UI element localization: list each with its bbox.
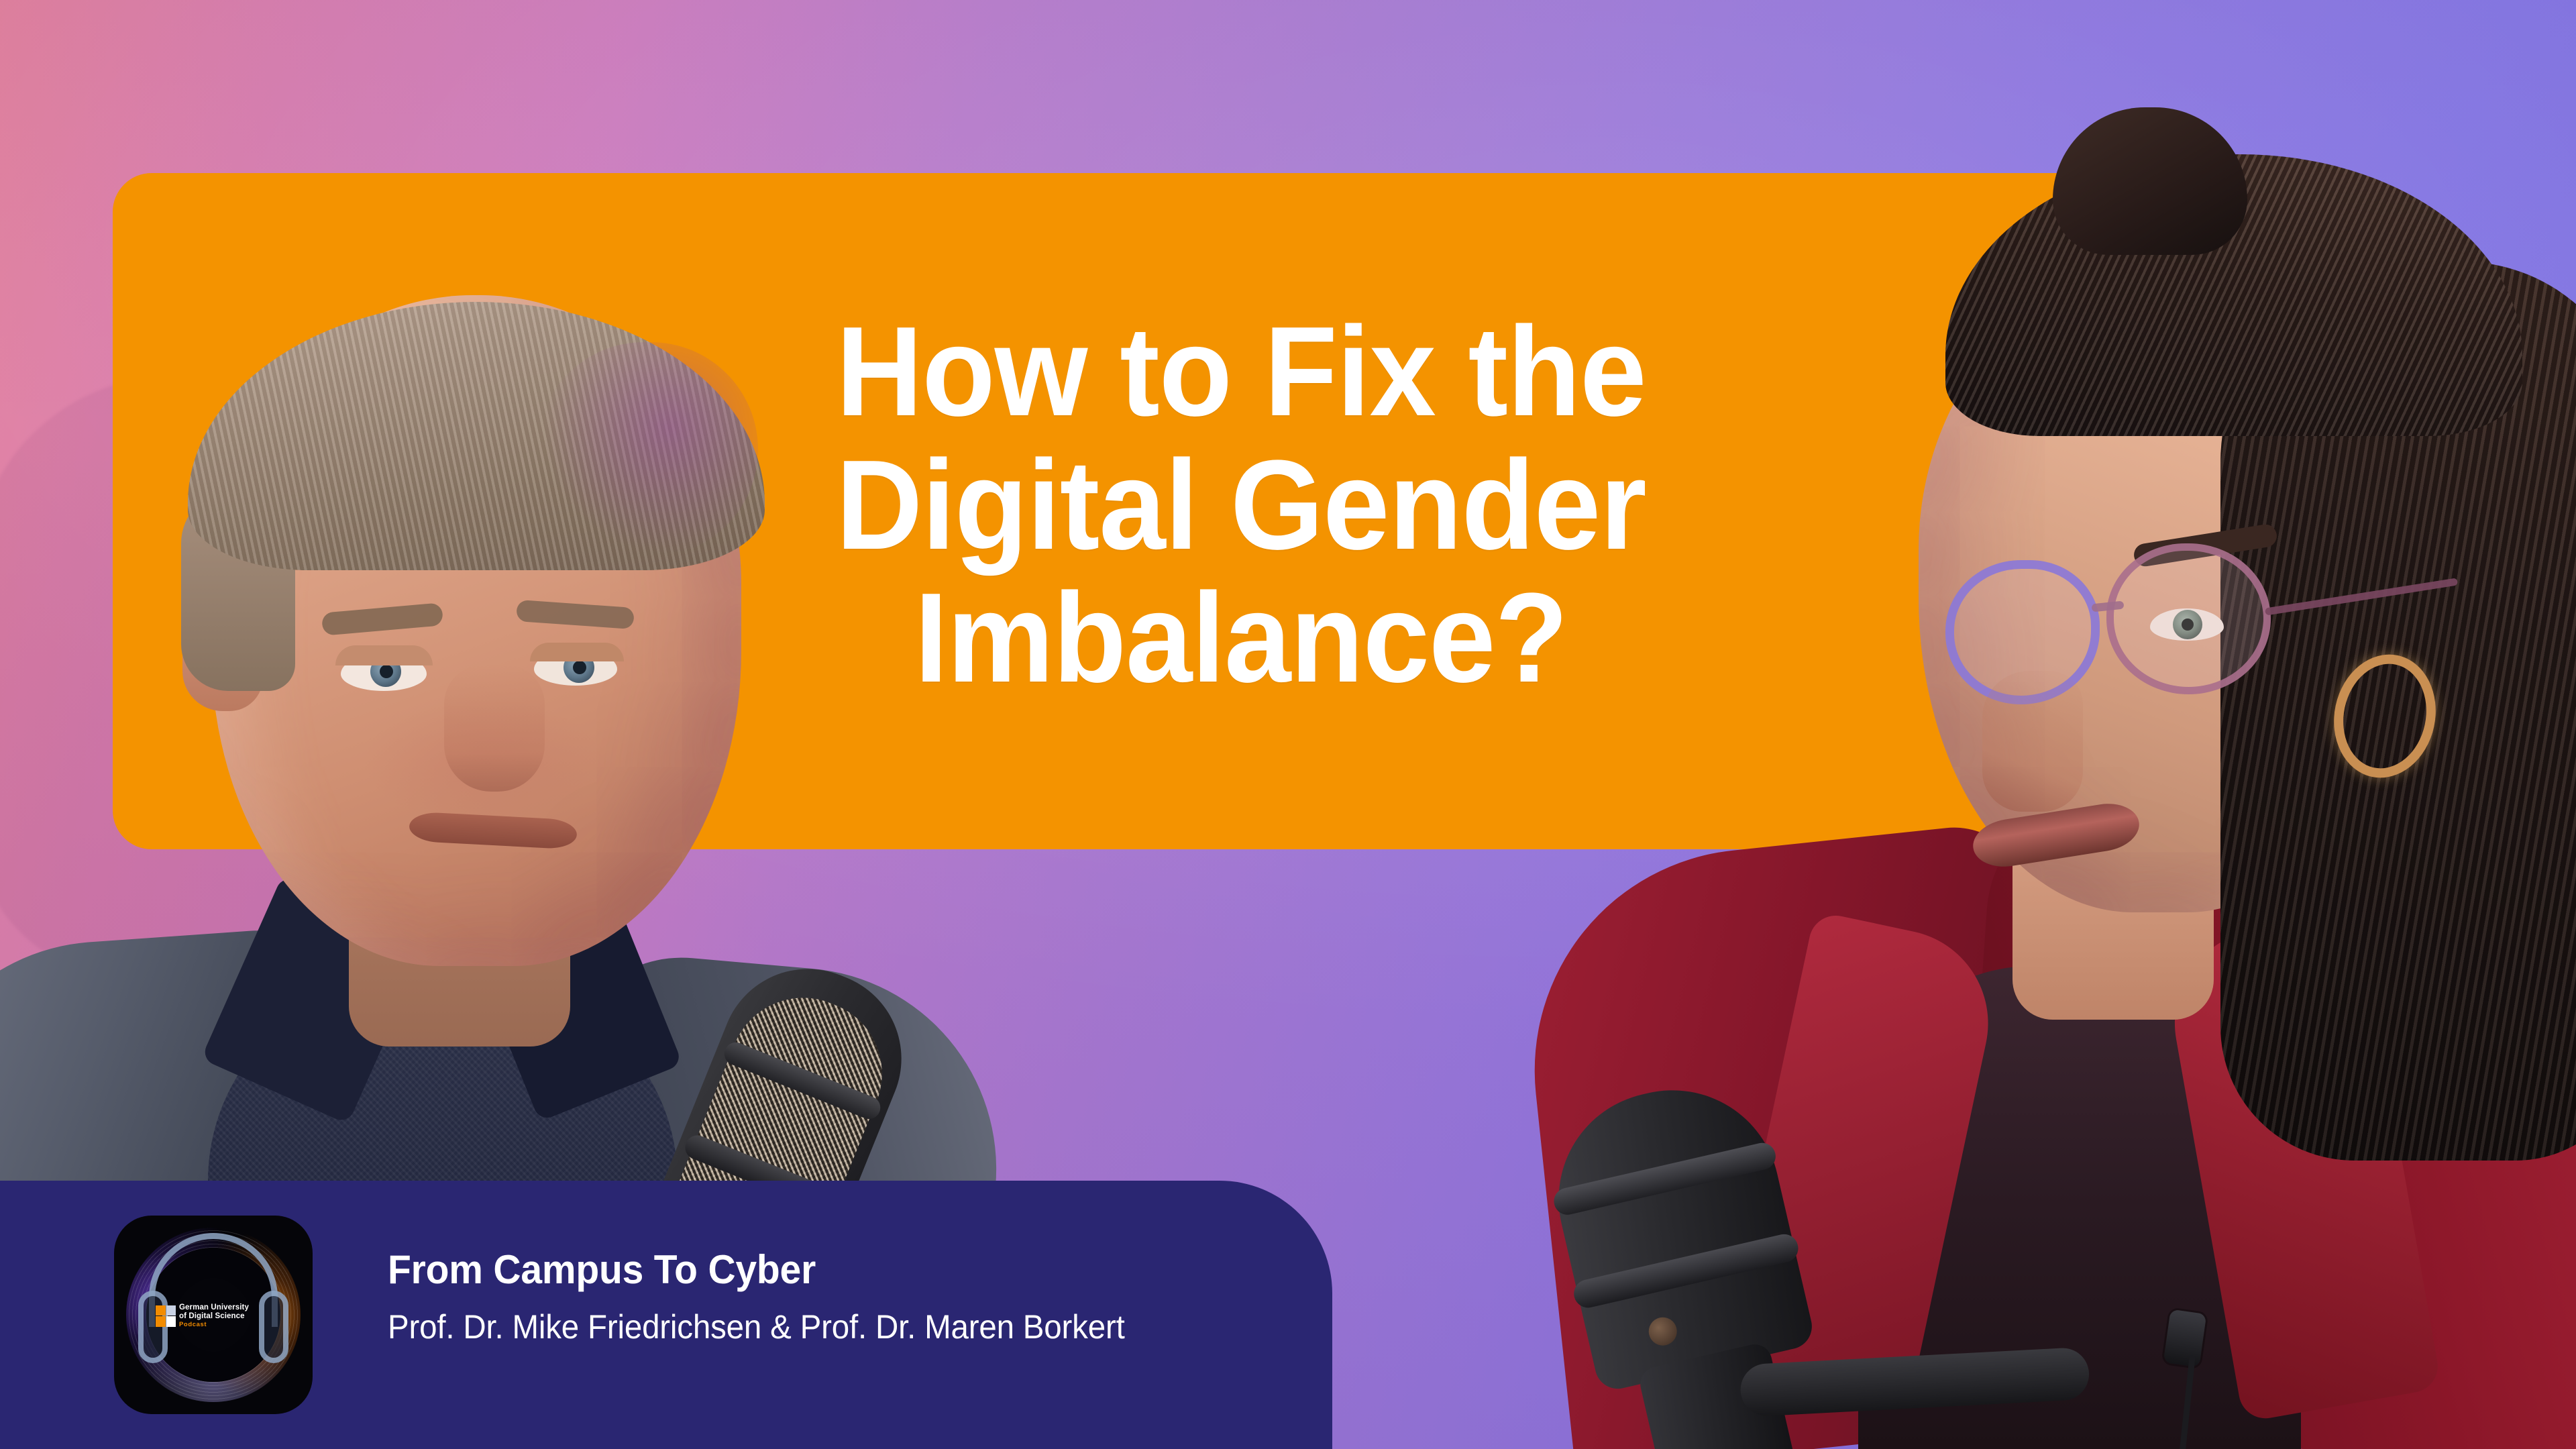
show-hosts: Prof. Dr. Mike Friedrichsen & Prof. Dr. … (388, 1308, 1229, 1346)
eyeglass-lens-right (2106, 543, 2271, 694)
show-info-text: From Campus To Cyber Prof. Dr. Mike Frie… (388, 1248, 1273, 1346)
university-logo-text: German University of Digital Science Pod… (179, 1303, 249, 1330)
title-line-3: Imbalance? (794, 572, 1689, 705)
university-logo-lockup: German University of Digital Science Pod… (156, 1301, 271, 1331)
female-nose (1982, 671, 2083, 812)
lavalier-microphone (2163, 1309, 2207, 1368)
show-title: From Campus To Cyber (388, 1248, 1229, 1292)
university-logo-mark-icon (156, 1305, 176, 1327)
male-eyelid-right (530, 643, 624, 661)
male-nose (444, 664, 545, 792)
title-line-1: How to Fix the (794, 305, 1689, 439)
logo-line-3: Podcast (179, 1321, 207, 1328)
female-hair-bun (2053, 107, 2247, 255)
mic-body (1538, 1069, 1817, 1393)
podcast-logo: German University of Digital Science Pod… (114, 1216, 313, 1414)
male-eyelid-left (335, 645, 433, 665)
logo-line-2: of Digital Science (179, 1312, 245, 1320)
title-line-2: Digital Gender (794, 439, 1689, 572)
logo-line-1: German University (179, 1303, 249, 1311)
thumbnail-title: How to Fix the Digital Gender Imbalance? (765, 305, 1717, 705)
video-thumbnail: How to Fix the Digital Gender Imbalance?… (0, 0, 2576, 1449)
male-hair-rim-light (537, 342, 758, 557)
